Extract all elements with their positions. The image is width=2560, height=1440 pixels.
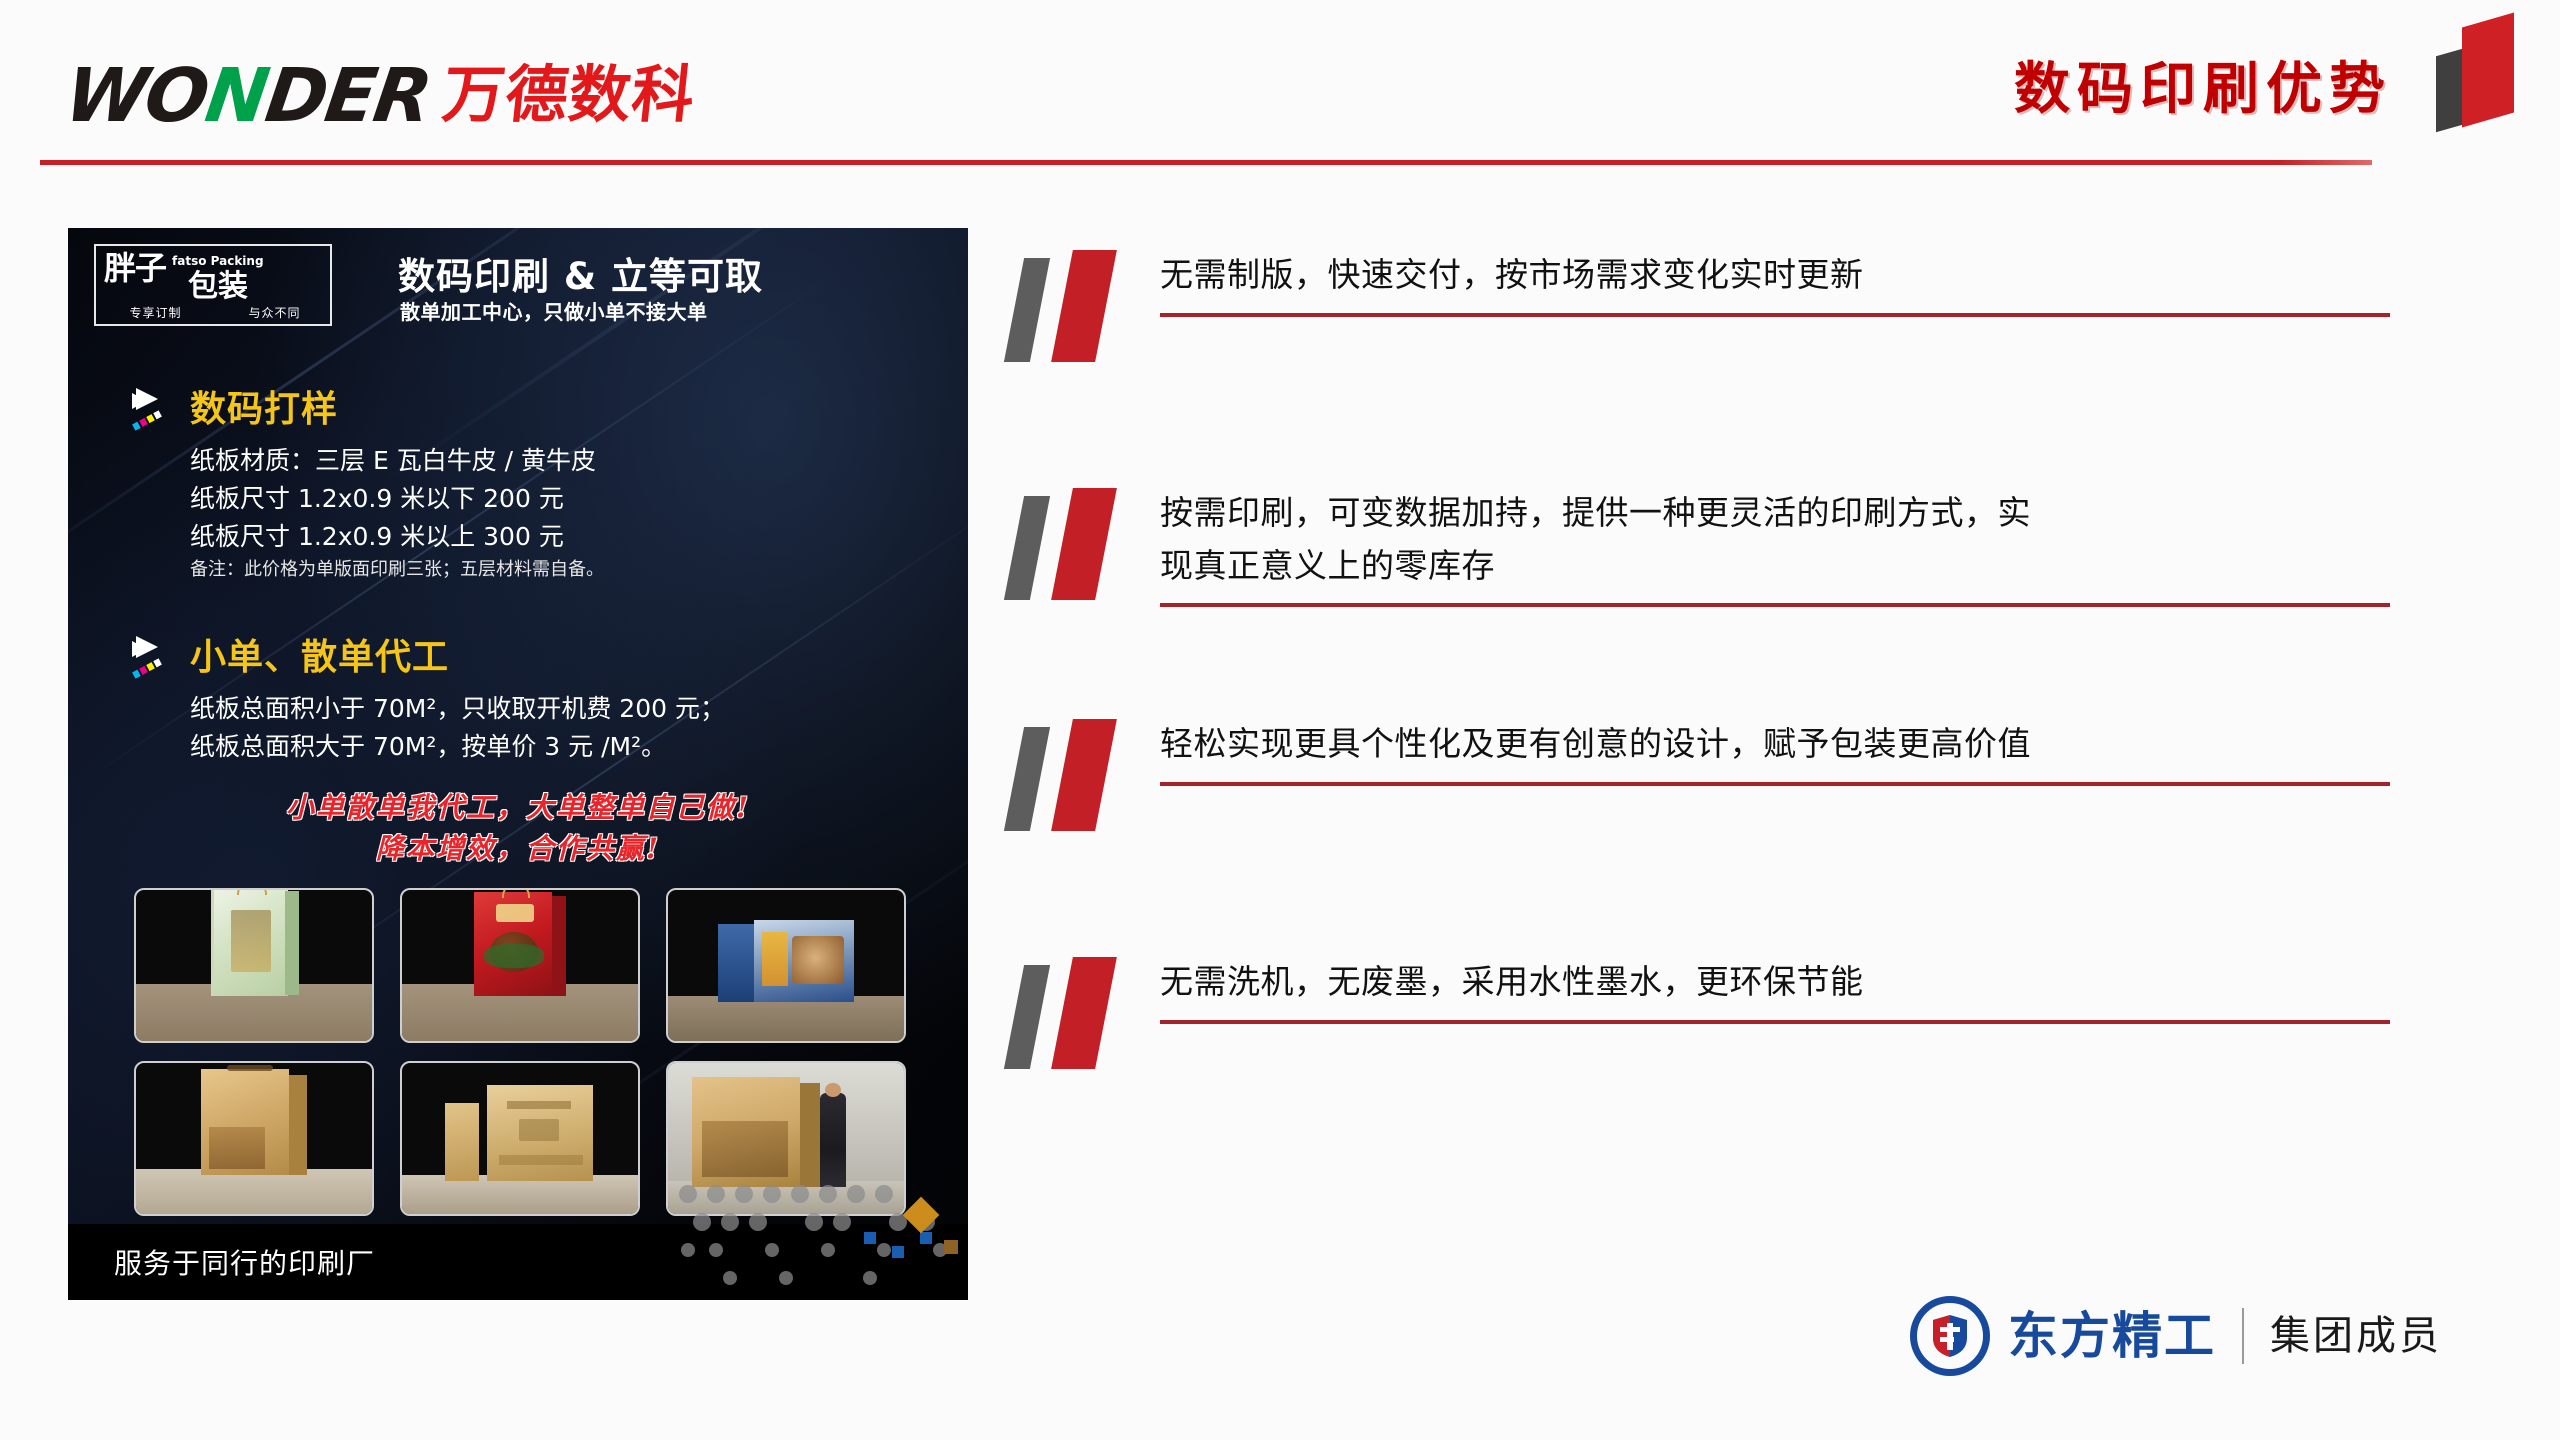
bullet-marker-icon — [1010, 717, 1140, 835]
product-photo-grid — [134, 888, 906, 1216]
product-photo-kraft-scenic-box — [134, 1061, 374, 1216]
group-member-label: 集团成员 — [2270, 1316, 2442, 1356]
poster-footer-text: 服务于同行的印刷厂 — [114, 1242, 375, 1282]
poster-section-digital-proofing: 数码打样 纸板材质：三层 E 瓦白牛皮 / 黄牛皮 纸板尺寸 1.2x0.9 米… — [130, 380, 930, 583]
advantage-item: 无需制版，快速交付，按市场需求变化实时更新 — [1010, 248, 2430, 358]
fatso-logo-taglines: 专享订制 与众不同 — [96, 304, 334, 321]
promo-poster-image: 胖子 fatso Packing 包装 专享订制 与众不同 数码印刷 & 立等可… — [68, 228, 968, 1300]
poster-footer-band: 服务于同行的印刷厂 — [68, 1224, 968, 1300]
product-photo-red-gift-box — [400, 888, 640, 1043]
cmyk-dots-icon — [132, 410, 162, 430]
page-title: 数码印刷优势 — [2014, 44, 2392, 125]
fatso-tagline-right: 与众不同 — [248, 304, 300, 321]
wonder-letter-n: N — [202, 62, 272, 130]
section-title: 数码打样 — [190, 380, 338, 432]
chevron-arrow-icon — [130, 386, 178, 426]
product-photo-beef-carton — [666, 888, 906, 1043]
corner-accent-red-bar — [2462, 13, 2514, 128]
advantage-item: 无需洗机，无废墨，采用水性墨水，更环保节能 — [1010, 955, 2430, 1065]
fatso-brand-cn: 胖子 — [104, 252, 166, 284]
group-member-logo: 东方精工 集团成员 — [1910, 1290, 2442, 1382]
section-heading-row: 小单、散单代工 — [130, 628, 930, 680]
slide-header: WONDER 万德数科 数码印刷优势 — [0, 0, 2560, 168]
shield-icon — [1931, 1314, 1969, 1358]
fatso-brand-package-cn: 包装 — [188, 272, 248, 302]
wonder-chinese-name: 万德数科 — [440, 64, 699, 126]
section-note: 备注：此价格为单版面印刷三张；五层材料需自备。 — [190, 556, 930, 583]
wonder-wordmark: WONDER — [61, 62, 434, 130]
poster-headline: 数码印刷 & 立等可取 — [398, 246, 763, 300]
section-heading-row: 数码打样 — [130, 380, 930, 432]
corner-accent-icon — [2434, 6, 2538, 130]
section-title: 小单、散单代工 — [190, 628, 449, 680]
advantage-line: 无需洗机，无废墨，采用水性墨水，更环保节能 — [1160, 955, 2390, 1008]
product-photo-kraft-classic-boxes — [400, 1061, 640, 1216]
advantages-list: 无需制版，快速交付，按市场需求变化实时更新 按需印刷，可变数据加持，提供一种更灵… — [1010, 248, 2430, 1065]
company-name-cn: 东方精工 — [2008, 1311, 2216, 1361]
bullet-marker-icon — [1010, 955, 1140, 1073]
section-line: 纸板尺寸 1.2x0.9 米以上 300 元 — [190, 518, 930, 556]
advantage-text-block: 轻松实现更具个性化及更有创意的设计，赋予包装更高价值 — [1160, 717, 2390, 786]
fatso-brand-en: fatso Packing — [172, 254, 264, 268]
dongfang-jingong-emblem-icon — [1910, 1296, 1990, 1376]
poster-subheadline: 散单加工中心，只做小单不接大单 — [400, 296, 708, 325]
bullet-marker-icon — [1010, 248, 1140, 366]
advantage-line: 轻松实现更具个性化及更有创意的设计，赋予包装更高价值 — [1160, 717, 2390, 770]
advantage-item: 按需印刷，可变数据加持，提供一种更灵活的印刷方式，实 现真正意义上的零库存 — [1010, 486, 2430, 607]
wonder-letters-wo: WO — [61, 62, 211, 130]
fatso-packing-logo: 胖子 fatso Packing 包装 专享订制 与众不同 — [94, 244, 332, 326]
poster-header-band: 胖子 fatso Packing 包装 专享订制 与众不同 数码印刷 & 立等可… — [68, 228, 968, 340]
wonder-brand-logo: WONDER 万德数科 — [66, 52, 695, 130]
advantage-text-block: 按需印刷，可变数据加持，提供一种更灵活的印刷方式，实 现真正意义上的零库存 — [1160, 486, 2390, 607]
advantage-item: 轻松实现更具个性化及更有创意的设计，赋予包装更高价值 — [1010, 717, 2430, 827]
poster-slogan-line-2: 降本增效，合作共赢! — [68, 829, 968, 870]
poster-section-small-order-oem: 小单、散单代工 纸板总面积小于 70M²，只收取开机费 200 元； 纸板总面积… — [130, 628, 930, 766]
chevron-arrow-icon — [130, 634, 178, 674]
advantage-line: 现真正意义上的零库存 — [1160, 539, 2390, 592]
bullet-marker-icon — [1010, 486, 1140, 604]
fatso-tagline-left: 专享订制 — [129, 304, 181, 321]
section-line: 纸板尺寸 1.2x0.9 米以下 200 元 — [190, 480, 930, 518]
advantage-line: 按需印刷，可变数据加持，提供一种更灵活的印刷方式，实 — [1160, 486, 2390, 539]
section-line: 纸板总面积大于 70M²，按单价 3 元 /M²。 — [190, 728, 930, 766]
section-line: 纸板总面积小于 70M²，只收取开机费 200 元； — [190, 690, 930, 728]
cmyk-dots-icon — [132, 658, 162, 678]
dot-pattern-decoration — [668, 1180, 968, 1300]
wonder-letters-der: DER — [262, 62, 435, 130]
poster-slogan: 小单散单我代工，大单整单自己做! 降本增效，合作共赢! — [68, 788, 968, 869]
advantage-text-block: 无需制版，快速交付，按市场需求变化实时更新 — [1160, 248, 2390, 317]
product-photo-honey-gift-box — [134, 888, 374, 1043]
logo-divider — [2242, 1308, 2244, 1364]
header-divider — [40, 160, 2372, 165]
advantage-text-block: 无需洗机，无废墨，采用水性墨水，更环保节能 — [1160, 955, 2390, 1024]
section-line: 纸板材质：三层 E 瓦白牛皮 / 黄牛皮 — [190, 442, 930, 480]
poster-slogan-line-1: 小单散单我代工，大单整单自己做! — [68, 788, 968, 829]
advantage-line: 无需制版，快速交付，按市场需求变化实时更新 — [1160, 248, 2390, 301]
